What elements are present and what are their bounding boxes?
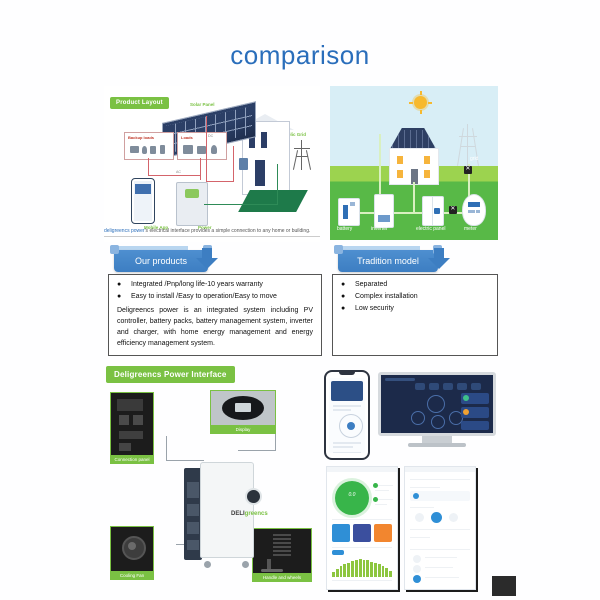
list-item: ●Integrated /Pnp/long life-10 years warr… (117, 281, 313, 288)
callout-lead-line (166, 460, 204, 461)
product-layout-caption: deligreencs power's electrical interface… (104, 228, 320, 237)
tradition-model-textbox: ●Separated ●Complex installation ●Low se… (332, 274, 498, 356)
electric-panel-icon (422, 196, 444, 226)
our-products-textbox: ●Integrated /Pnp/long life-10 years warr… (108, 274, 322, 356)
traditional-system-illustration: battery inverter electric panel meter gr… (330, 86, 498, 240)
energy-bar-chart (332, 559, 392, 577)
inverter-label: inverter (371, 226, 388, 232)
meter-icon (462, 194, 486, 226)
house-icon (389, 148, 439, 185)
chart-range-tab[interactable] (332, 550, 344, 555)
our-products-arrow-down-icon (196, 248, 218, 269)
house-window-icon (261, 132, 267, 148)
smart-meter-icon (239, 158, 248, 170)
our-products-banner[interactable]: Our products (114, 250, 208, 272)
callout-lead-line (166, 436, 167, 461)
battery-icon (338, 198, 360, 226)
power-cabinet-product-image: DELIgreencs (184, 462, 252, 564)
bullet-icon: ● (117, 293, 131, 300)
ac-wire-label: AC (176, 170, 181, 174)
public-grid-pylon-icon (292, 140, 312, 170)
callout-cooling-fan: Cooling Fan (110, 526, 154, 580)
grid-label: grid (470, 156, 478, 162)
callout-handle-wheels: Handle and wheels (252, 528, 312, 582)
loads-box: Loads (177, 132, 227, 160)
cabinet-display-knob-icon (245, 488, 262, 505)
sun-icon (414, 96, 427, 109)
inverter-icon (374, 194, 394, 228)
desktop-dashboard-mock (378, 372, 496, 448)
app-hero-banner (331, 381, 363, 401)
app-status-bar (405, 467, 475, 472)
app-status-bar (327, 467, 397, 472)
cabinet-brand-logo: DELIgreencs (231, 511, 268, 517)
list-item: ●Easy to install /Easy to operation/Easy… (117, 293, 313, 300)
grid-disconnect-icon (464, 166, 472, 174)
energy-gauge: 0.0 (335, 481, 369, 515)
settings-row[interactable] (410, 491, 470, 501)
electric-panel-label: electric panel (416, 226, 445, 232)
callout-display: Display (210, 390, 276, 434)
product-layout-tag: Product Layout (110, 91, 169, 109)
meter-label: meter (464, 226, 477, 232)
lawn-shape (238, 190, 308, 212)
app-dpad-control[interactable] (339, 414, 363, 438)
callout-label: Handle and wheels (253, 573, 311, 581)
monitor-base (408, 443, 466, 447)
status-tile[interactable] (374, 524, 392, 542)
our-products-bullet-list: ●Integrated /Pnp/long life-10 years warr… (117, 281, 313, 300)
bullet-icon: ● (341, 305, 355, 312)
bullet-icon: ● (341, 281, 355, 288)
app-screen-energy-overview: 0.0 (326, 466, 398, 590)
solar-panel-label: Solar Panel (190, 102, 215, 107)
battery-label: battery (337, 226, 352, 232)
our-products-paragraph: Deligreencs power is an integrated syste… (117, 305, 313, 349)
power-interface-section: Deligreencs Power Interface Connection p… (104, 366, 320, 592)
page-title: comparison (0, 40, 600, 71)
callout-label: Display (211, 425, 275, 433)
bullet-icon: ● (117, 281, 131, 288)
list-item: ●Separated (341, 281, 489, 288)
power-interface-tag: Deligreencs Power Interface (106, 366, 235, 383)
dc-wire-label: DC (208, 134, 213, 138)
page-corner-marker (492, 576, 516, 596)
tradition-model-bullet-list: ●Separated ●Complex installation ●Low se… (341, 281, 489, 312)
software-devices-section: 0.0 (320, 366, 500, 592)
callout-connection-panel: Connection panel (110, 392, 154, 464)
product-layout-diagram: Product Layout Solar Panel Public Grid S… (104, 86, 320, 242)
list-item: ●Complex installation (341, 293, 489, 300)
cabinet-wheel-icon (242, 561, 249, 568)
status-tile[interactable] (332, 524, 350, 542)
app-screen-device-settings (404, 466, 476, 590)
mobile-app-remote-mock (324, 370, 370, 460)
rooftop-solar-icon (385, 128, 441, 150)
list-item: ●Low security (341, 305, 489, 312)
house-door-icon (255, 160, 265, 186)
tradition-model-banner[interactable]: Tradition model (338, 250, 438, 272)
mobile-app-mock (131, 178, 155, 224)
monitor-screen (378, 372, 496, 436)
callout-label: Connection panel (111, 455, 153, 463)
callout-lead-line (238, 450, 276, 451)
cabinet-front-panel: DELIgreencs (200, 462, 254, 558)
phone-notch (339, 372, 355, 375)
disconnect-switch-icon (449, 206, 457, 214)
callout-label: Cooling Fan (111, 571, 153, 579)
status-tile[interactable] (353, 524, 371, 542)
backup-loads-box: Backup loads (124, 132, 174, 160)
bullet-icon: ● (341, 293, 355, 300)
slide-canvas: comparison Product Layout Solar Panel Pu… (0, 0, 600, 600)
tradition-model-arrow-down-icon (428, 248, 450, 269)
cabinet-wheel-icon (204, 561, 211, 568)
